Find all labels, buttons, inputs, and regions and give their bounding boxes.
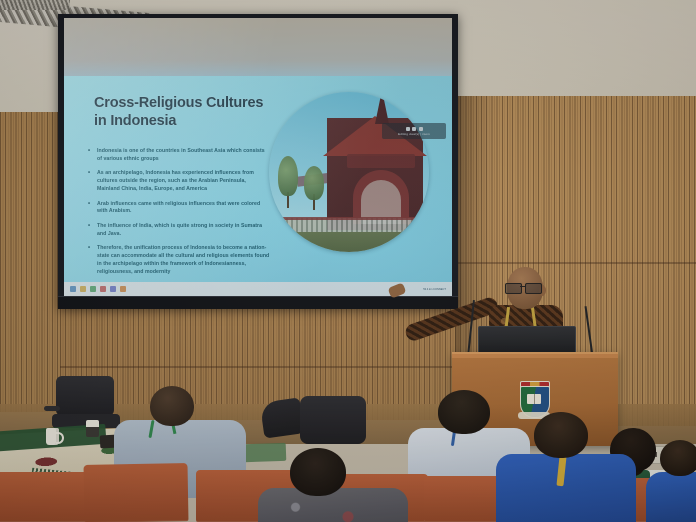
glasses-lens-right (525, 283, 542, 294)
vc-more-icon[interactable] (120, 286, 126, 292)
vc-record-icon[interactable] (100, 286, 106, 292)
photo-tree (304, 166, 324, 200)
photo-tree (278, 156, 298, 196)
slide-bullet: The influence of India, which is quite s… (86, 223, 270, 239)
vc-status-label: 53.4 km CONNECT (423, 288, 446, 291)
ceiling-vent-grille-secondary (0, 0, 70, 10)
photo-church-spire (375, 92, 389, 124)
coffee-mug[interactable] (86, 420, 99, 437)
slide-bullet-list: Indonesia is one of the countries in Sou… (86, 148, 270, 283)
vc-mic-icon[interactable] (70, 286, 76, 292)
slide-bullet: Indonesia is one of the countries in Sou… (86, 148, 270, 164)
vc-overlay-label: Editing view(s) | zoom (398, 132, 430, 136)
wall-panel-seam-lower (60, 366, 460, 368)
projection-screen-surface: Cross-Religious Cultures in Indonesia In… (64, 18, 452, 296)
audience-torso (496, 454, 636, 522)
photo-church-gable (347, 154, 415, 168)
projection-screen: Cross-Religious Cultures in Indonesia In… (58, 14, 458, 309)
auditorium-seat[interactable] (84, 463, 189, 522)
presenter-glasses (505, 283, 545, 293)
slide-bullet: Arab influences came with religious infl… (86, 201, 270, 217)
video-conference-overlay[interactable]: Editing view(s) | zoom (382, 123, 446, 139)
slide-bullet: Therefore, the unification process of In… (86, 245, 270, 277)
photo-fence-rail (273, 217, 423, 220)
slide-title: Cross-Religious Cultures in Indonesia (94, 94, 270, 130)
audience-head (660, 440, 696, 476)
auditorium-seat[interactable] (0, 472, 90, 522)
audience-torso (646, 472, 696, 522)
vc-share-icon[interactable] (90, 286, 96, 292)
presentation-slide: Cross-Religious Cultures in Indonesia In… (64, 76, 452, 296)
glasses-lens-left (505, 283, 522, 294)
vc-overlay-dots (406, 127, 423, 131)
lectern-top-edge (452, 354, 618, 358)
vc-camera-icon[interactable] (80, 286, 86, 292)
office-chair-armrest (44, 406, 60, 411)
audience-head (438, 390, 490, 434)
coffee-mug[interactable] (46, 428, 59, 445)
audience-member (506, 412, 636, 522)
audience-head (290, 448, 346, 496)
screen-glare-sheen (64, 18, 452, 78)
audience-head (534, 412, 588, 458)
conference-photo: Cross-Religious Cultures in Indonesia In… (0, 0, 696, 522)
wood-slat-wall-left (0, 112, 66, 412)
vc-participants-icon[interactable] (110, 286, 116, 292)
office-chair-backrest[interactable] (56, 376, 114, 416)
office-chair-backrest[interactable] (300, 396, 366, 444)
glasses-bridge (520, 286, 525, 287)
slide-bullet: As an archipelago, Indonesia has experie… (86, 170, 270, 194)
slide-circular-photo (269, 92, 429, 252)
photo-spire-finial (382, 92, 384, 94)
photo-fence (273, 218, 423, 232)
audience-head (150, 386, 194, 426)
audience-member (262, 448, 402, 522)
audience-member (660, 440, 696, 522)
